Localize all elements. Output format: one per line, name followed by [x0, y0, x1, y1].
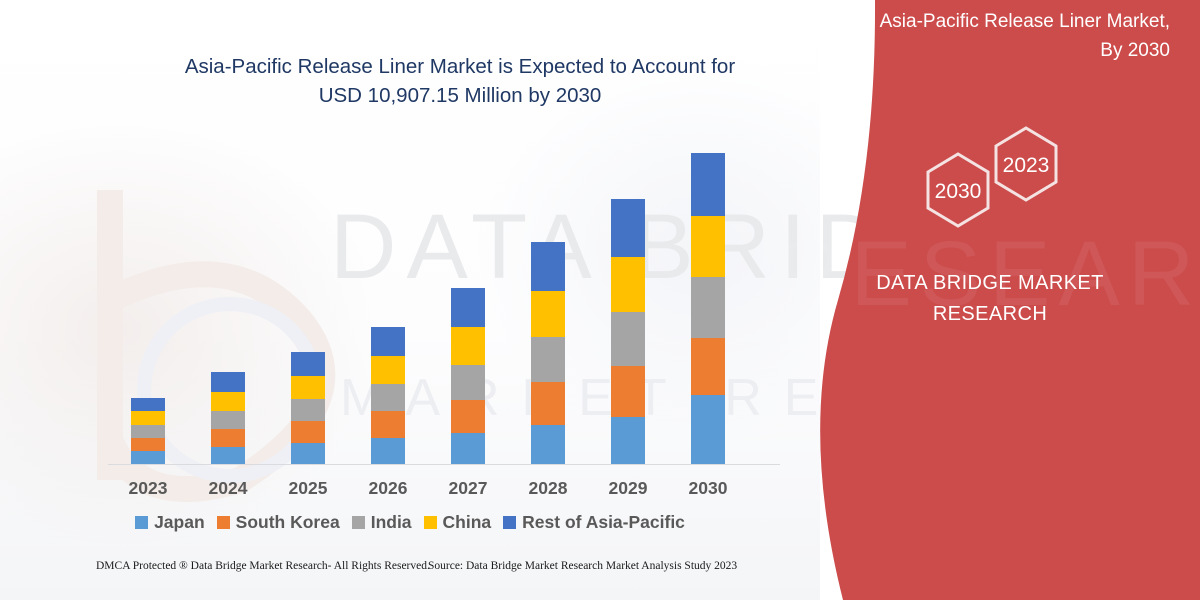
- stacked-bar-chart: 20232024202520262027202820292030 JapanSo…: [0, 0, 820, 600]
- x-axis-label-2023: 2023: [108, 478, 188, 499]
- bar-segment-rest-of-asia-pacific: [131, 398, 165, 411]
- bar-segment-india: [291, 399, 325, 421]
- legend-swatch-icon: [503, 516, 516, 529]
- x-axis-label-2028: 2028: [508, 478, 588, 499]
- panel-title-line2: By 2030: [840, 37, 1170, 66]
- hexagon-2023-label: 2023: [1003, 154, 1050, 177]
- bar-segment-rest-of-asia-pacific: [291, 352, 325, 376]
- panel-title: Asia-Pacific Release Liner Market, By 20…: [840, 8, 1170, 65]
- legend-label: South Korea: [236, 512, 340, 533]
- x-axis-label-2026: 2026: [348, 478, 428, 499]
- bar-segment-china: [451, 327, 485, 365]
- bar-segment-india: [691, 277, 725, 338]
- footer-source-note: Source: Data Bridge Market Research Mark…: [428, 560, 737, 572]
- brand-name: DATA BRIDGE MARKET RESEARCH: [780, 268, 1200, 330]
- legend-item-japan[interactable]: Japan: [135, 512, 205, 533]
- legend-item-china[interactable]: China: [424, 512, 492, 533]
- legend-item-south-korea[interactable]: South Korea: [217, 512, 340, 533]
- bar-segment-south-korea: [611, 366, 645, 417]
- legend-swatch-icon: [217, 516, 230, 529]
- bar-2024: [211, 372, 245, 464]
- legend-label: India: [371, 512, 412, 533]
- x-axis-label-2025: 2025: [268, 478, 348, 499]
- bar-segment-rest-of-asia-pacific: [451, 288, 485, 327]
- legend-item-india[interactable]: India: [352, 512, 412, 533]
- bar-segment-south-korea: [291, 421, 325, 443]
- infographic-canvas: DATA BRIDGE MARKET RESEARCH Asia-Pacific…: [0, 0, 1200, 600]
- bar-segment-south-korea: [531, 382, 565, 425]
- legend-swatch-icon: [135, 516, 148, 529]
- chart-baseline: [108, 464, 780, 465]
- bar-segment-india: [451, 365, 485, 400]
- bar-segment-japan: [531, 425, 565, 464]
- bar-2030: [691, 153, 725, 464]
- legend-label: Japan: [154, 512, 205, 533]
- bar-2023: [131, 398, 165, 464]
- bar-segment-china: [291, 376, 325, 399]
- x-axis-label-2024: 2024: [188, 478, 268, 499]
- bar-segment-india: [371, 384, 405, 411]
- chart-legend: JapanSouth KoreaIndiaChinaRest of Asia-P…: [0, 512, 820, 533]
- bar-segment-rest-of-asia-pacific: [531, 242, 565, 291]
- legend-label: Rest of Asia-Pacific: [522, 512, 685, 533]
- x-axis-label-2029: 2029: [588, 478, 668, 499]
- bar-segment-japan: [211, 447, 245, 464]
- hexagon-2030-label: 2030: [935, 180, 982, 203]
- bar-segment-rest-of-asia-pacific: [691, 153, 725, 216]
- bar-segment-south-korea: [691, 338, 725, 395]
- bar-segment-rest-of-asia-pacific: [211, 372, 245, 392]
- bar-segment-japan: [371, 438, 405, 464]
- footer-dmca-notice: DMCA Protected ® Data Bridge Market Rese…: [96, 560, 430, 572]
- bar-2029: [611, 199, 645, 464]
- x-axis-label-2030: 2030: [668, 478, 748, 499]
- bar-2027: [451, 288, 485, 464]
- bar-segment-rest-of-asia-pacific: [611, 199, 645, 257]
- bar-segment-japan: [291, 443, 325, 464]
- bar-segment-south-korea: [371, 411, 405, 438]
- legend-swatch-icon: [424, 516, 437, 529]
- bar-segment-china: [131, 411, 165, 425]
- bar-segment-japan: [611, 417, 645, 464]
- brand-line1: DATA BRIDGE MARKET: [780, 268, 1200, 299]
- bar-2026: [371, 327, 405, 464]
- bar-segment-japan: [691, 395, 725, 464]
- hexagon-badges: 2023 2030: [780, 118, 1200, 228]
- bar-segment-india: [611, 312, 645, 366]
- bar-segment-south-korea: [451, 400, 485, 433]
- bar-segment-india: [211, 411, 245, 429]
- brand-line2: RESEARCH: [780, 299, 1200, 330]
- bar-segment-india: [531, 337, 565, 382]
- legend-swatch-icon: [352, 516, 365, 529]
- bar-segment-rest-of-asia-pacific: [371, 327, 405, 356]
- brand-panel: RESEARCH Asia-Pacific Release Liner Mark…: [780, 0, 1200, 600]
- bar-segment-china: [211, 392, 245, 411]
- bar-2025: [291, 352, 325, 464]
- legend-label: China: [443, 512, 492, 533]
- bar-segment-south-korea: [211, 429, 245, 447]
- legend-item-rest-of-asia-pacific[interactable]: Rest of Asia-Pacific: [503, 512, 685, 533]
- x-axis-label-2027: 2027: [428, 478, 508, 499]
- bar-segment-china: [371, 356, 405, 384]
- bar-segment-india: [131, 425, 165, 438]
- bar-segment-china: [611, 257, 645, 312]
- bar-2028: [531, 242, 565, 464]
- panel-title-line1: Asia-Pacific Release Liner Market,: [840, 8, 1170, 37]
- bar-segment-china: [691, 216, 725, 277]
- bar-segment-china: [531, 291, 565, 337]
- bar-segment-south-korea: [131, 438, 165, 451]
- bar-segment-japan: [131, 451, 165, 464]
- bar-segment-japan: [451, 433, 485, 464]
